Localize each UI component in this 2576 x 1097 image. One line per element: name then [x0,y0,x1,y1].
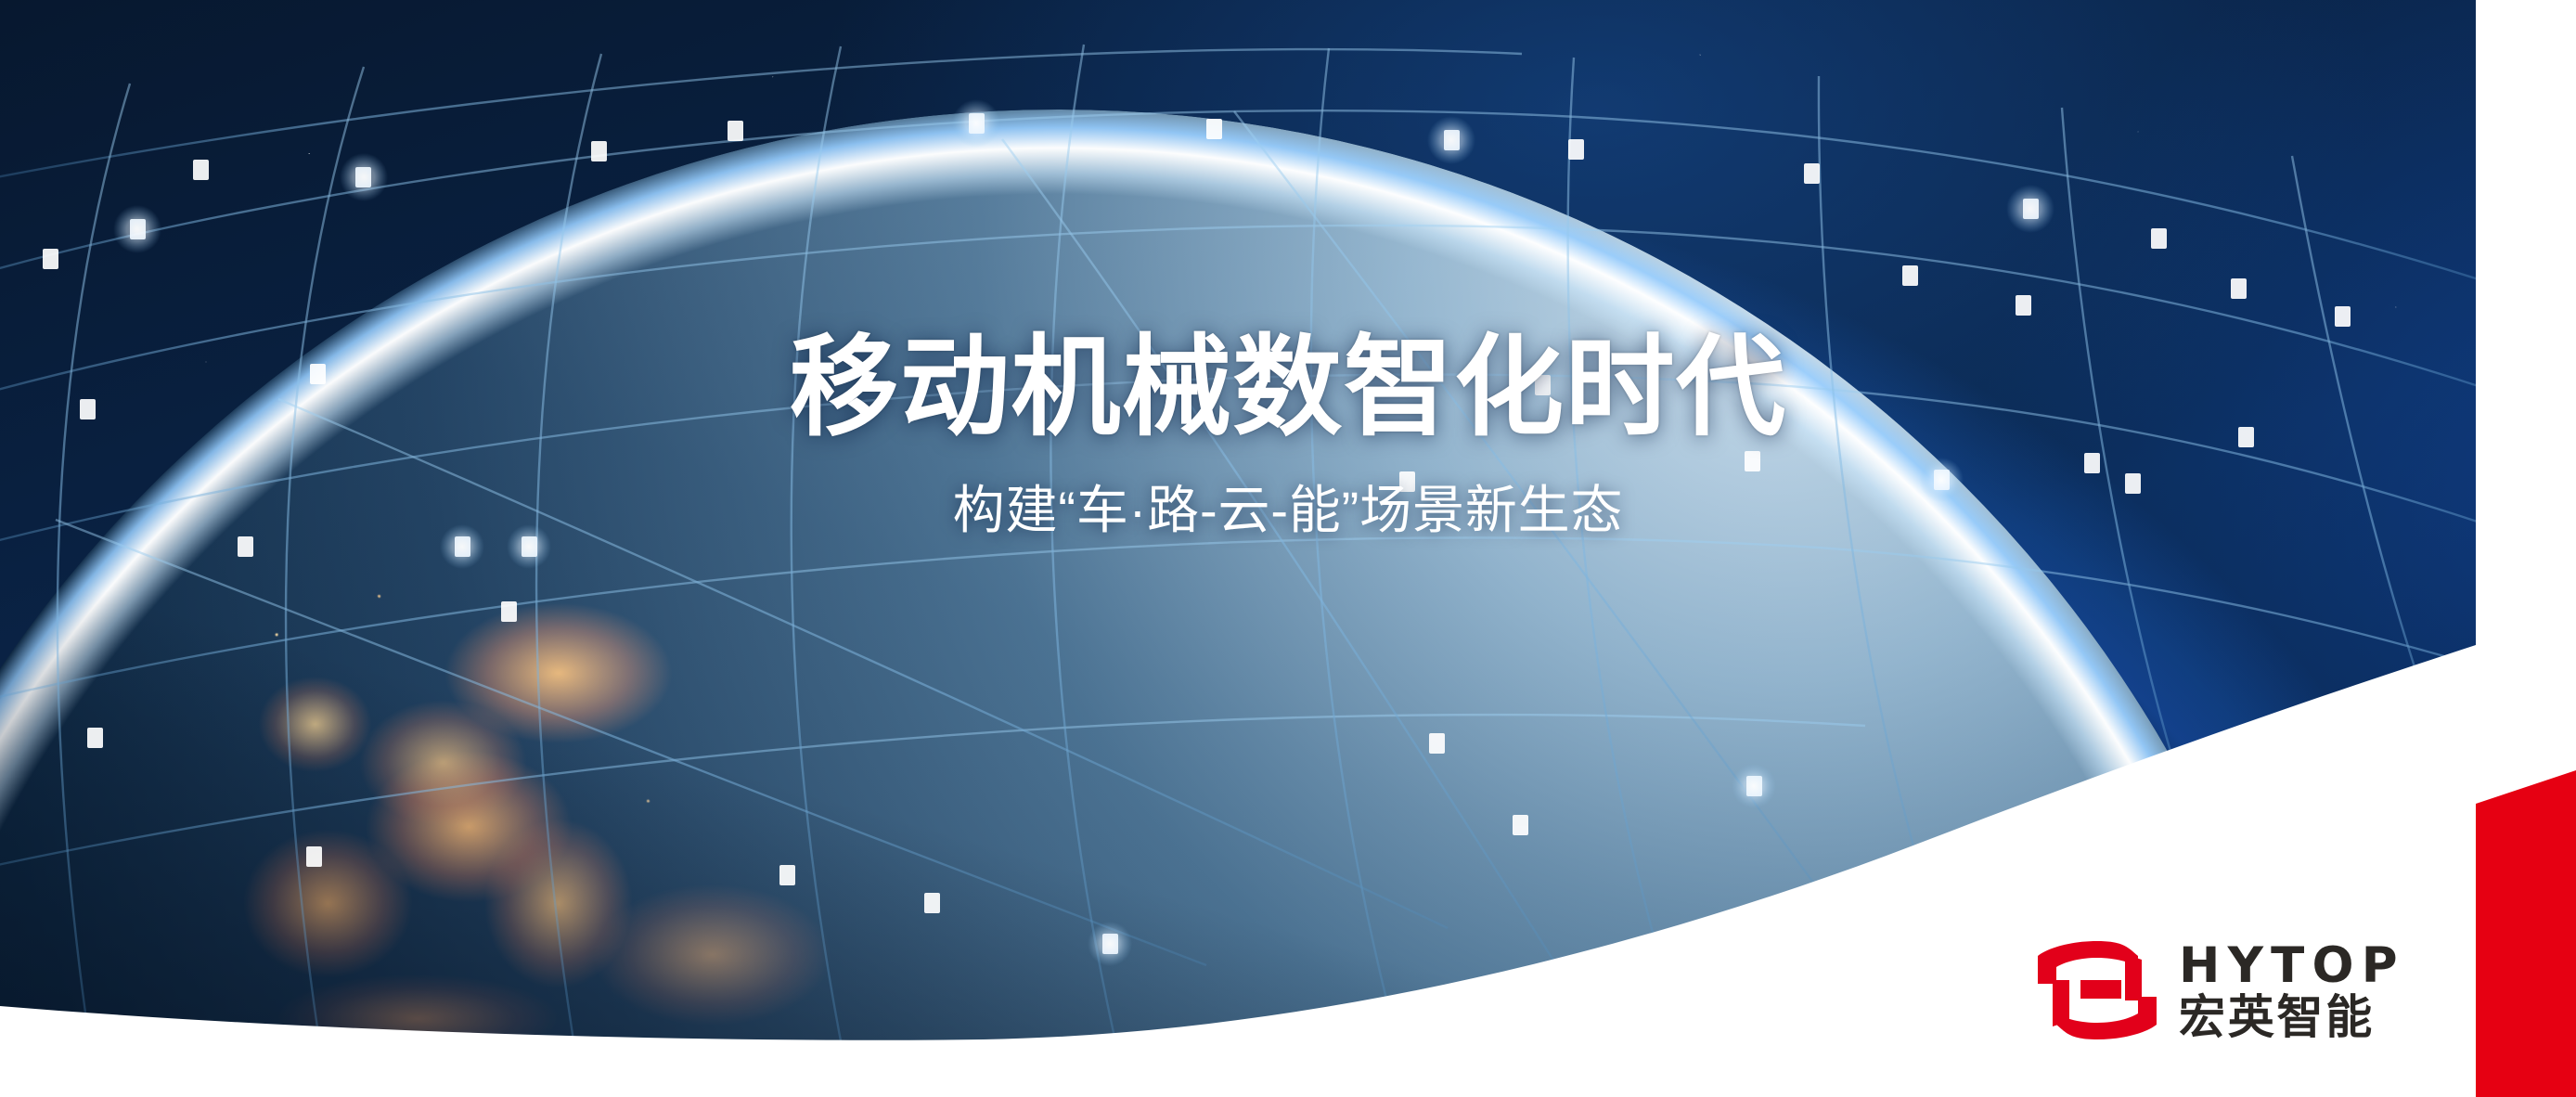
brand-logo: HYTOP 宏英智能 [2038,936,2405,1045]
brand-logo-text: HYTOP 宏英智能 [2179,941,2405,1040]
title-slide: 移动机械数智化时代 构建“车·路-云-能”场景新生态 [0,0,2576,1097]
brand-name-cn: 宏英智能 [2179,994,2405,1040]
hytop-g-mark-icon [2038,936,2157,1045]
right-white-column [2476,0,2576,1097]
brand-name-en: HYTOP [2179,941,2405,990]
